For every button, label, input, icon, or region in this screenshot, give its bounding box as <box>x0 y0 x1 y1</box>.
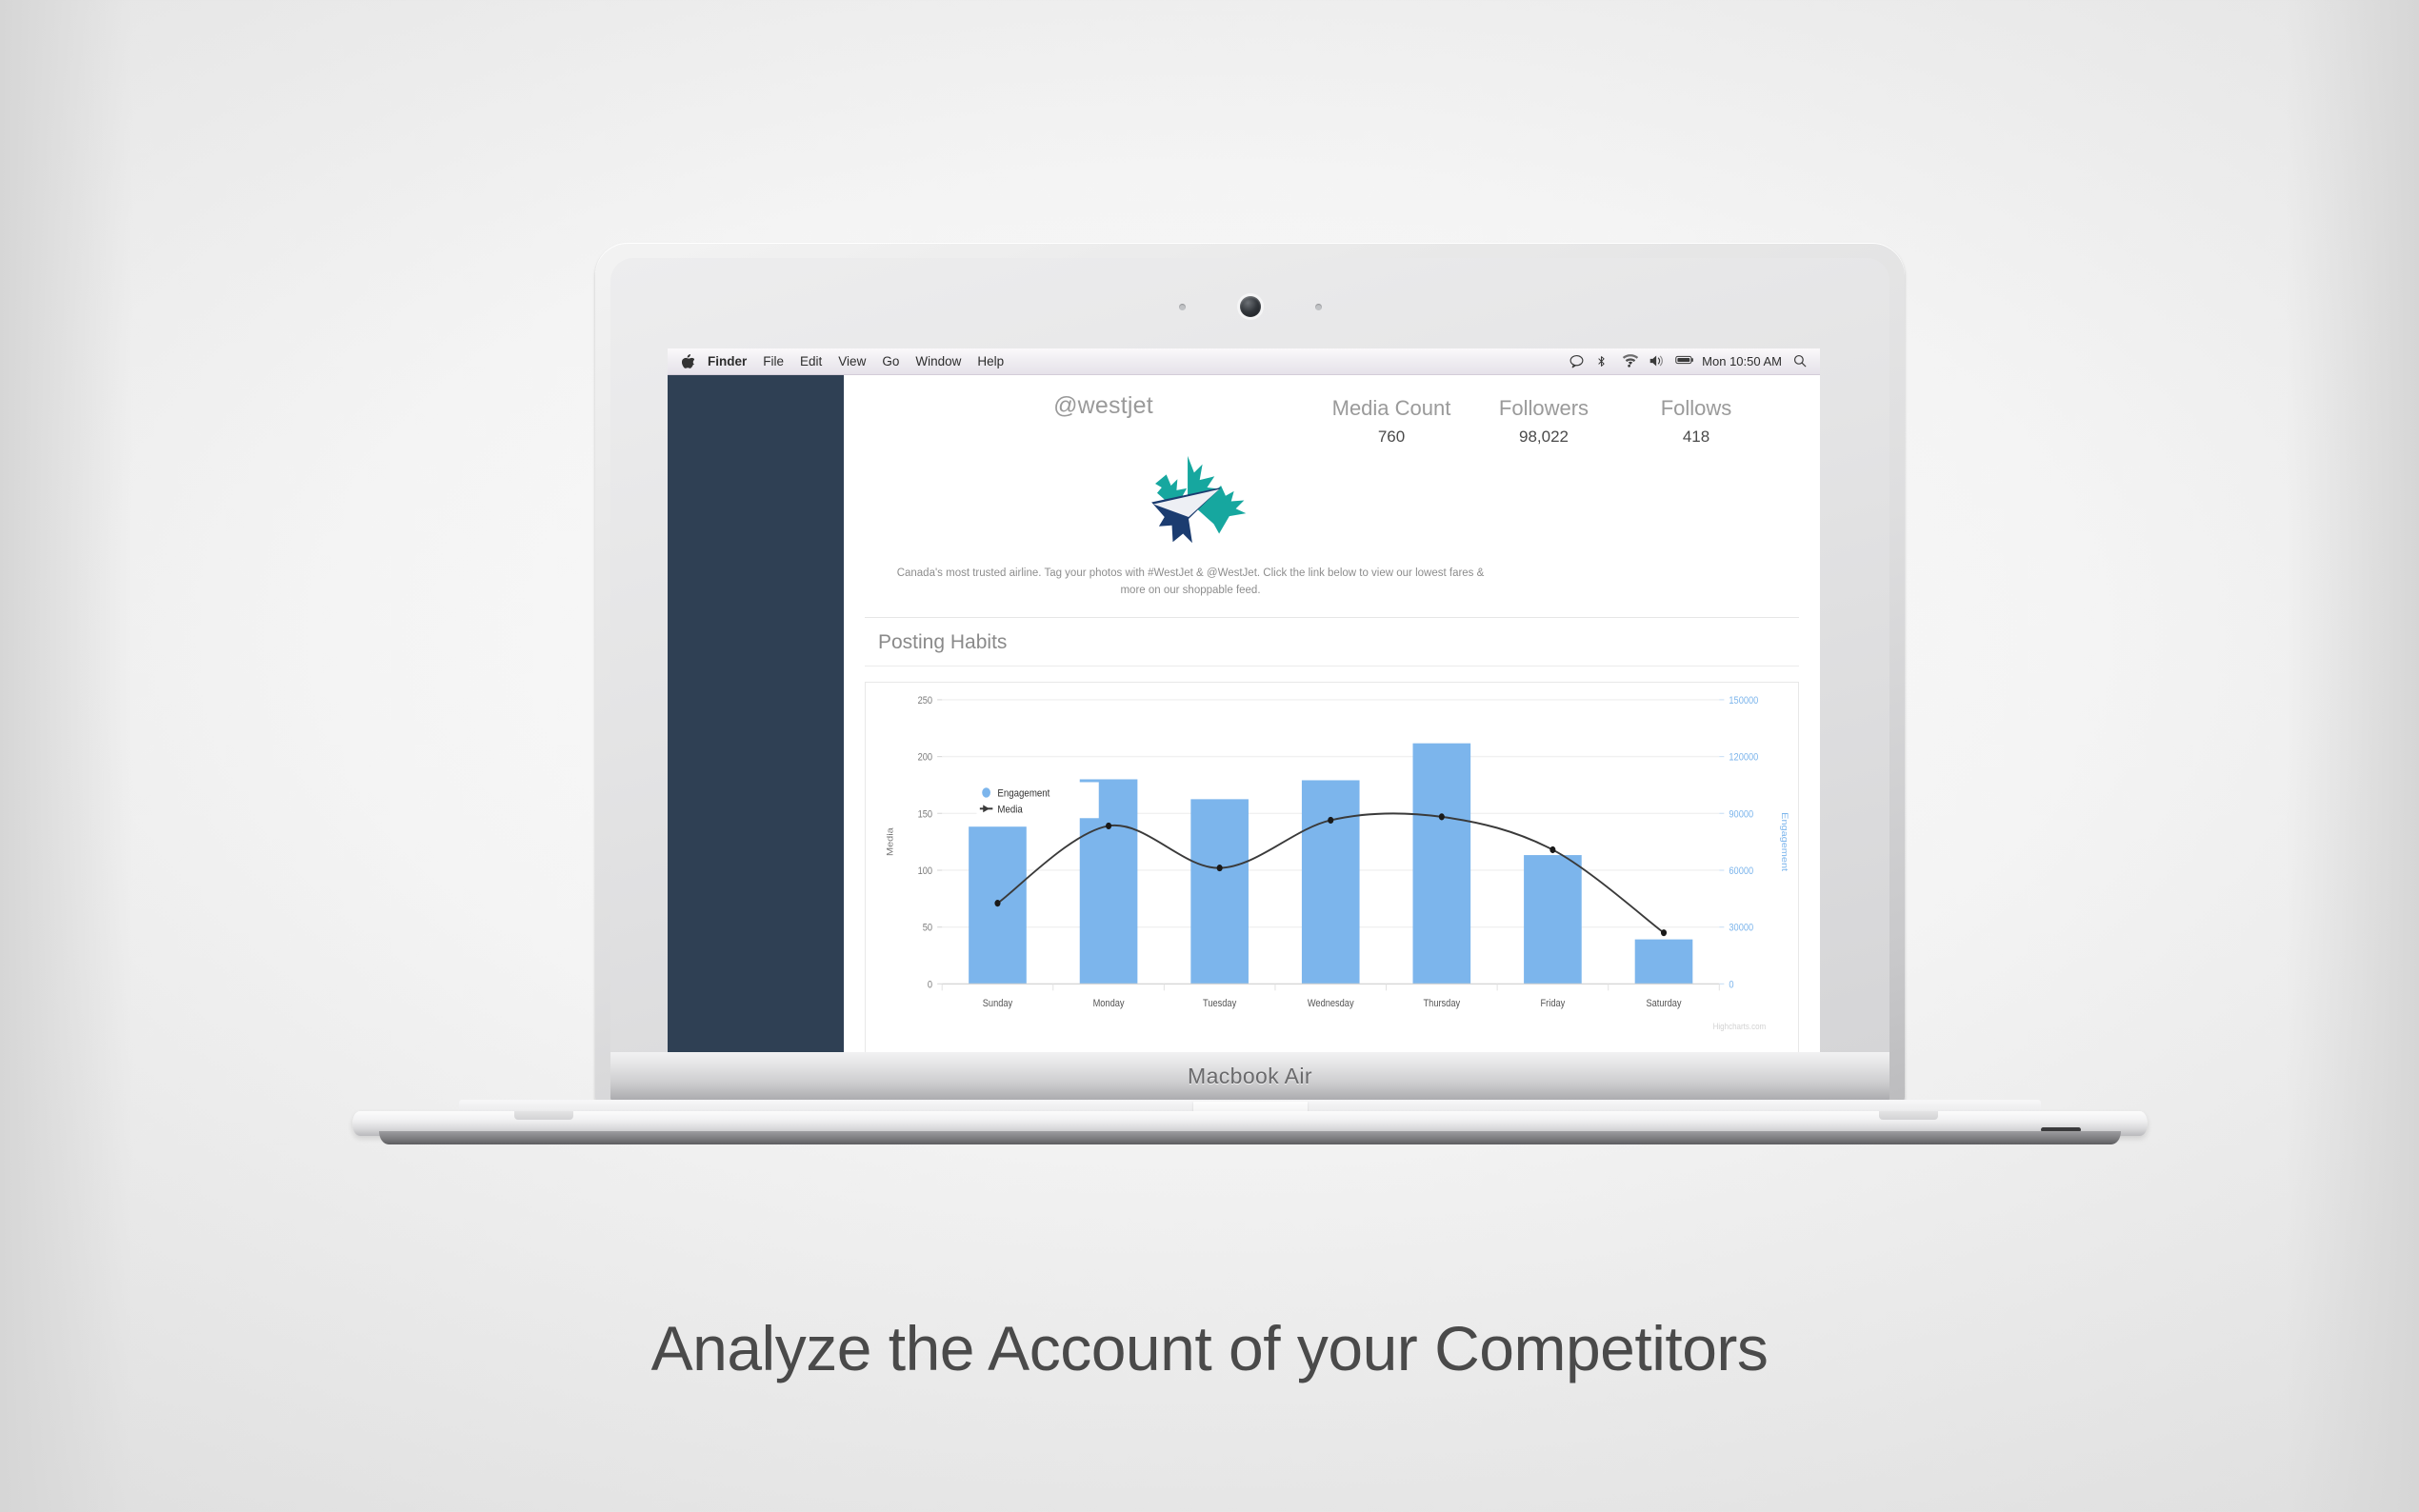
device-label: Macbook Air <box>595 1064 1905 1089</box>
app-content: @westjet Media Count 760 Followers 98,02… <box>844 375 1820 1067</box>
posting-habits-chart[interactable]: 0501001502002500300006000090000120000150… <box>865 682 1799 1053</box>
svg-text:120000: 120000 <box>1729 752 1758 764</box>
svg-text:0: 0 <box>1729 979 1733 990</box>
svg-text:Media: Media <box>997 803 1022 815</box>
profile-handle-block: @westjet <box>891 392 1315 420</box>
macbook-air-mockup: Finder File Edit View Go Window Help <box>352 243 1667 1157</box>
svg-text:Media: Media <box>886 826 895 855</box>
svg-text:250: 250 <box>918 695 933 706</box>
base-notch-left <box>514 1111 573 1120</box>
svg-text:Highcharts.com: Highcharts.com <box>1713 1021 1767 1031</box>
menu-item-go[interactable]: Go <box>882 354 899 368</box>
profile-handle: @westjet <box>891 392 1315 420</box>
camera-led-icon <box>1315 304 1322 310</box>
bluetooth-icon[interactable] <box>1595 353 1611 369</box>
apple-logo-icon[interactable] <box>681 354 694 369</box>
menu-item-window[interactable]: Window <box>915 354 961 368</box>
svg-text:150: 150 <box>918 808 933 820</box>
chart-canvas: 0501001502002500300006000090000120000150… <box>866 683 1798 1052</box>
menu-bar-clock[interactable]: Mon 10:50 AM <box>1702 354 1782 368</box>
base-lip <box>379 1131 2121 1144</box>
svg-text:Saturday: Saturday <box>1646 998 1682 1009</box>
menu-item-edit[interactable]: Edit <box>800 354 822 368</box>
marketing-caption: Analyze the Account of your Competitors <box>0 1312 2419 1384</box>
left-vignette <box>0 0 133 1512</box>
webcam-icon <box>1240 296 1261 317</box>
svg-text:Engagement: Engagement <box>1779 812 1789 871</box>
svg-text:Thursday: Thursday <box>1424 998 1461 1009</box>
svg-text:Wednesday: Wednesday <box>1308 998 1355 1009</box>
battery-icon[interactable] <box>1675 353 1691 369</box>
camera-sensor-icon <box>1179 304 1186 310</box>
stat-followers: Followers 98,022 <box>1468 396 1620 447</box>
stat-value: 760 <box>1315 428 1468 447</box>
stat-value: 418 <box>1620 428 1772 447</box>
stat-label: Followers <box>1468 396 1620 421</box>
laptop-base <box>352 1100 2148 1144</box>
profile-avatar-wrap <box>844 452 1799 552</box>
svg-text:Sunday: Sunday <box>983 998 1013 1009</box>
app-body: @westjet Media Count 760 Followers 98,02… <box>668 375 1820 1067</box>
profile-header: @westjet Media Count 760 Followers 98,02… <box>865 375 1799 447</box>
stat-label: Media Count <box>1315 396 1468 421</box>
wifi-icon[interactable] <box>1622 353 1638 369</box>
screen: Finder File Edit View Go Window Help <box>668 348 1820 1067</box>
base-notch-right <box>1879 1111 1938 1120</box>
stat-follows: Follows 418 <box>1620 396 1772 447</box>
volume-icon[interactable] <box>1649 353 1665 369</box>
laptop-bezel: Finder File Edit View Go Window Help <box>610 258 1889 1095</box>
svg-text:Monday: Monday <box>1093 998 1126 1009</box>
svg-text:50: 50 <box>923 923 933 934</box>
menu-item-file[interactable]: File <box>763 354 784 368</box>
svg-text:0: 0 <box>928 979 932 990</box>
svg-text:60000: 60000 <box>1729 865 1753 877</box>
westjet-logo-icon <box>1128 452 1251 552</box>
svg-text:Friday: Friday <box>1541 998 1567 1009</box>
svg-text:Tuesday: Tuesday <box>1203 998 1237 1009</box>
stat-label: Follows <box>1620 396 1772 421</box>
laptop-lid: Finder File Edit View Go Window Help <box>595 243 1905 1104</box>
menu-item-view[interactable]: View <box>838 354 866 368</box>
section-title-posting-habits: Posting Habits <box>865 618 1799 666</box>
svg-text:90000: 90000 <box>1729 808 1753 820</box>
svg-text:200: 200 <box>918 752 933 764</box>
stat-value: 98,022 <box>1468 428 1620 447</box>
svg-text:100: 100 <box>918 865 933 877</box>
profile-bio: Canada's most trusted airline. Tag your … <box>886 566 1495 600</box>
menu-bar-status-items: Mon 10:50 AM <box>1569 353 1809 369</box>
section-divider-bottom <box>865 666 1799 666</box>
stat-media-count: Media Count 760 <box>1315 396 1468 447</box>
svg-text:150000: 150000 <box>1729 695 1758 706</box>
menu-item-finder[interactable]: Finder <box>708 354 747 368</box>
search-icon[interactable] <box>1792 353 1809 369</box>
menu-item-help[interactable]: Help <box>977 354 1004 368</box>
message-icon[interactable] <box>1569 353 1585 369</box>
profile-stats: Media Count 760 Followers 98,022 Follows… <box>1315 392 1772 447</box>
app-sidebar[interactable] <box>668 375 844 1067</box>
mac-menu-bar: Finder File Edit View Go Window Help <box>668 348 1820 375</box>
svg-text:Engagement: Engagement <box>997 786 1050 799</box>
svg-text:30000: 30000 <box>1729 923 1753 934</box>
right-vignette <box>2286 0 2419 1512</box>
